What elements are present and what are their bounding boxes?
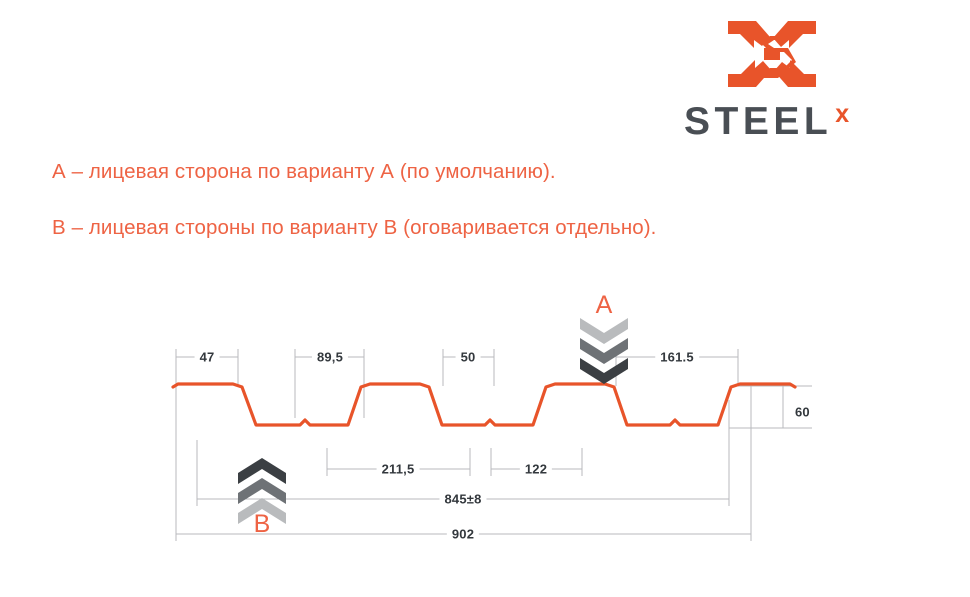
roofing-profile-section <box>173 384 795 425</box>
variant-marker-a-letter: A <box>596 293 613 318</box>
dimension-label-211-5: 211,5 <box>377 462 420 477</box>
screenshot-root: STEEL x А – лицевая сторона по варианту … <box>0 0 970 597</box>
dimension-label-122: 122 <box>520 462 552 477</box>
dimension-label-89-5: 89,5 <box>312 350 348 365</box>
dimension-label-60: 60 <box>790 405 815 420</box>
profile-technical-drawing <box>0 0 970 597</box>
dimension-label-902: 902 <box>447 527 479 542</box>
dimension-label-50: 50 <box>456 350 481 365</box>
dimension-label-47: 47 <box>195 350 220 365</box>
dimension-label-161-5: 161.5 <box>655 350 699 365</box>
marker-a-chevrons <box>580 318 628 384</box>
dimension-label-845: 845±8 <box>439 492 486 507</box>
variant-marker-b-letter: B <box>254 512 271 537</box>
